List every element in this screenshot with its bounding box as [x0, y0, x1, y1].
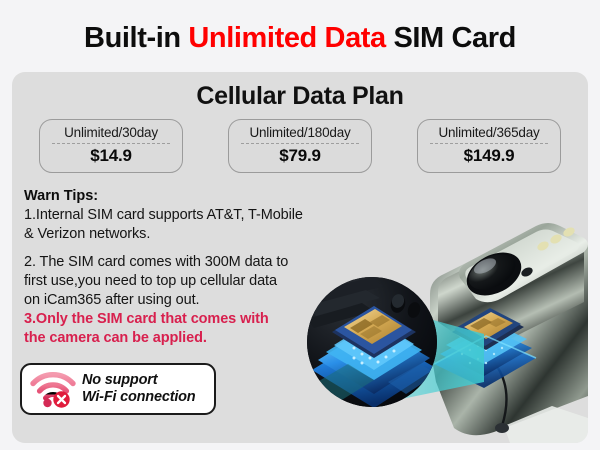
plan-price: $79.9 — [235, 146, 365, 166]
plan-divider — [241, 143, 359, 144]
plan-card-list: Unlimited/30day $14.9 Unlimited/180day $… — [12, 119, 588, 173]
warn-tips-block: Warn Tips: 1.Internal SIM card supports … — [24, 187, 324, 348]
cellular-plan-panel: Cellular Data Plan Unlimited/30day $14.9… — [12, 72, 588, 443]
no-wifi-badge: No support Wi-Fi connection — [20, 363, 216, 415]
panel-title: Cellular Data Plan — [12, 82, 588, 111]
headline-part-1: Built-in — [84, 22, 188, 54]
plan-price: $14.9 — [46, 146, 176, 166]
no-wifi-label-line-1: No support — [82, 372, 157, 388]
plan-label: Unlimited/30day — [46, 125, 176, 140]
warn-tip-1-line-1: 1.Internal SIM card supports AT&T, T-Mob… — [24, 206, 324, 225]
no-wifi-icon — [30, 370, 78, 408]
no-wifi-label-line-2: Wi-Fi connection — [82, 389, 195, 405]
plan-divider — [52, 143, 170, 144]
plan-card-365day[interactable]: Unlimited/365day $149.9 — [417, 119, 561, 173]
plan-divider — [430, 143, 548, 144]
product-illustration — [288, 182, 588, 443]
headline-highlight: Unlimited Data — [188, 22, 385, 54]
warn-tip-2-line-1: 2. The SIM card comes with 300M data to — [24, 253, 324, 272]
plan-card-180day[interactable]: Unlimited/180day $79.9 — [228, 119, 372, 173]
tips-spacer — [24, 244, 324, 253]
warn-tip-2-line-2: first use,you need to top up cellular da… — [24, 272, 324, 291]
warn-tips-heading: Warn Tips: — [24, 187, 324, 206]
plan-label: Unlimited/365day — [424, 125, 554, 140]
plan-card-30day[interactable]: Unlimited/30day $14.9 — [39, 119, 183, 173]
headline-part-2: SIM Card — [386, 22, 516, 54]
page-title: Built-in Unlimited Data SIM Card — [0, 22, 600, 55]
no-wifi-label: No support Wi-Fi connection — [82, 372, 195, 406]
magnified-inset — [307, 277, 437, 408]
product-image — [288, 182, 588, 443]
plan-price: $149.9 — [424, 146, 554, 166]
warn-tip-1-line-2: & Verizon networks. — [24, 225, 324, 244]
warn-tip-3-line-1: 3.Only the SIM card that comes with — [24, 310, 324, 329]
plan-label: Unlimited/180day — [235, 125, 365, 140]
warn-tip-2-line-3: on iCam365 after using out. — [24, 291, 324, 310]
warn-tip-3-line-2: the camera can be applied. — [24, 329, 324, 348]
